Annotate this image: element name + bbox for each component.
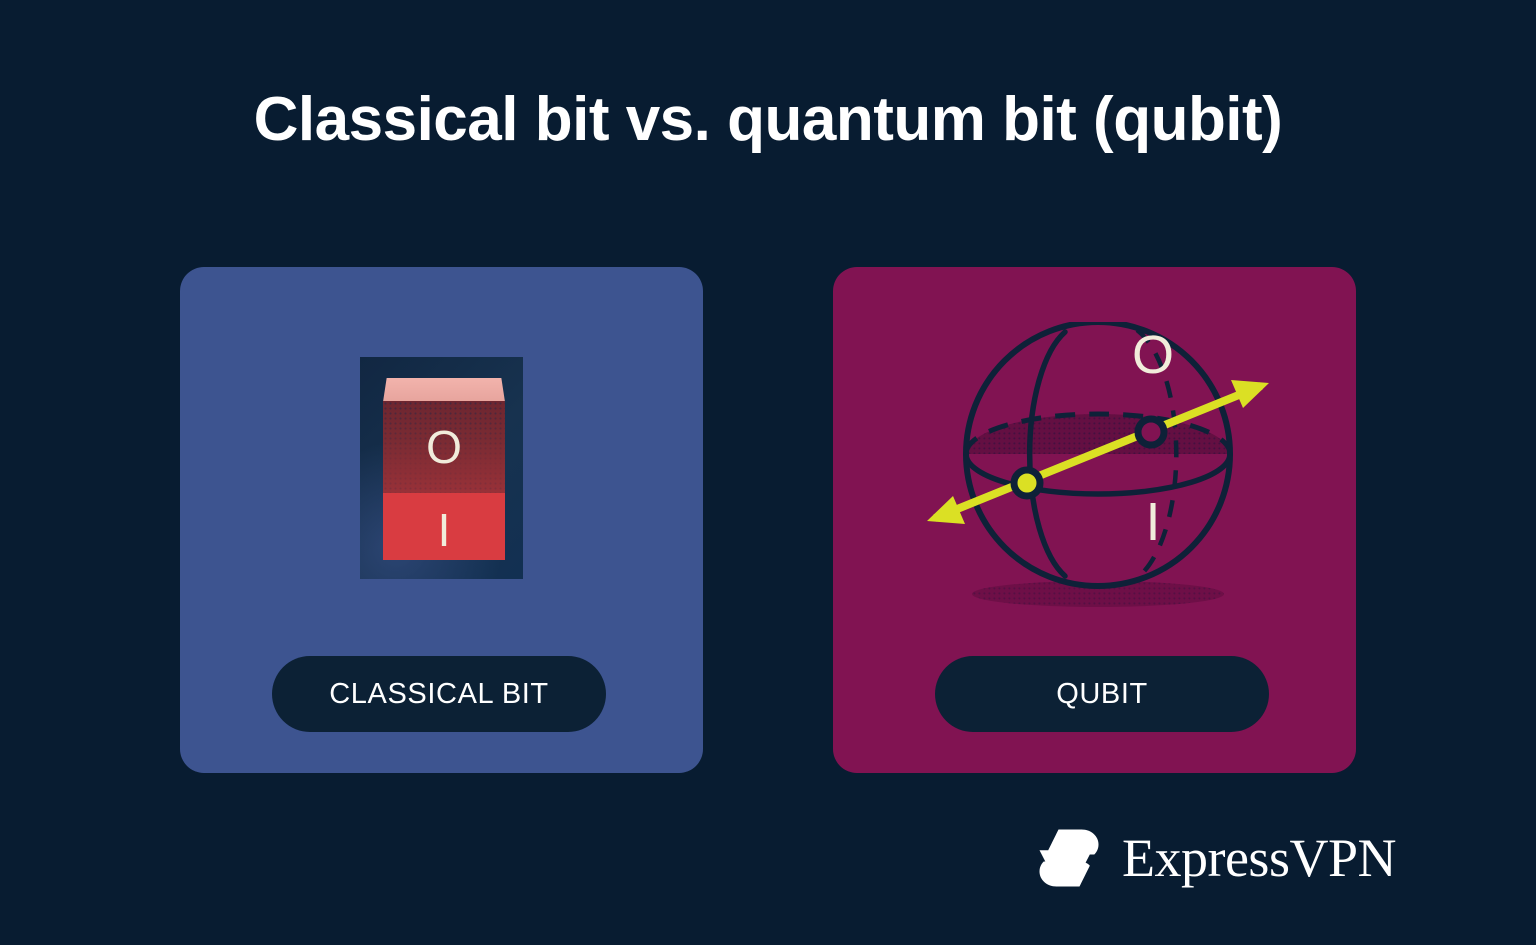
label-pill-qubit[interactable]: QUBIT [935, 656, 1269, 732]
page-title: Classical bit vs. quantum bit (qubit) [0, 86, 1536, 154]
state-dot-hollow[interactable] [1138, 419, 1164, 445]
switch-top-bevel [383, 378, 505, 402]
expressvpn-e-mark-icon [1036, 828, 1102, 888]
pill-label-text: CLASSICAL BIT [329, 678, 548, 711]
label-pill-classical-bit[interactable]: CLASSICAL BIT [272, 656, 606, 732]
card-classical-bit: O I CLASSICAL BIT [180, 267, 703, 773]
expressvpn-logo[interactable]: ExpressVPN [1036, 823, 1396, 893]
sphere-glyph-top: O [1118, 328, 1188, 382]
switch-glyph-off: O [383, 424, 505, 470]
infographic-canvas: Classical bit vs. quantum bit (qubit) O … [0, 0, 1536, 945]
switch-body[interactable]: O I [383, 378, 505, 560]
card-qubit: O I QUBIT [833, 267, 1356, 773]
expressvpn-wordmark: ExpressVPN [1122, 827, 1396, 889]
pill-label-text: QUBIT [1056, 678, 1148, 711]
bloch-sphere-svg [913, 322, 1283, 642]
rocker-switch-illustration: O I [360, 357, 523, 579]
state-dot-filled[interactable] [1014, 470, 1040, 496]
switch-glyph-on: I [383, 507, 505, 553]
sphere-glyph-bottom: I [1118, 495, 1188, 549]
bloch-sphere-illustration: O I [913, 322, 1283, 642]
